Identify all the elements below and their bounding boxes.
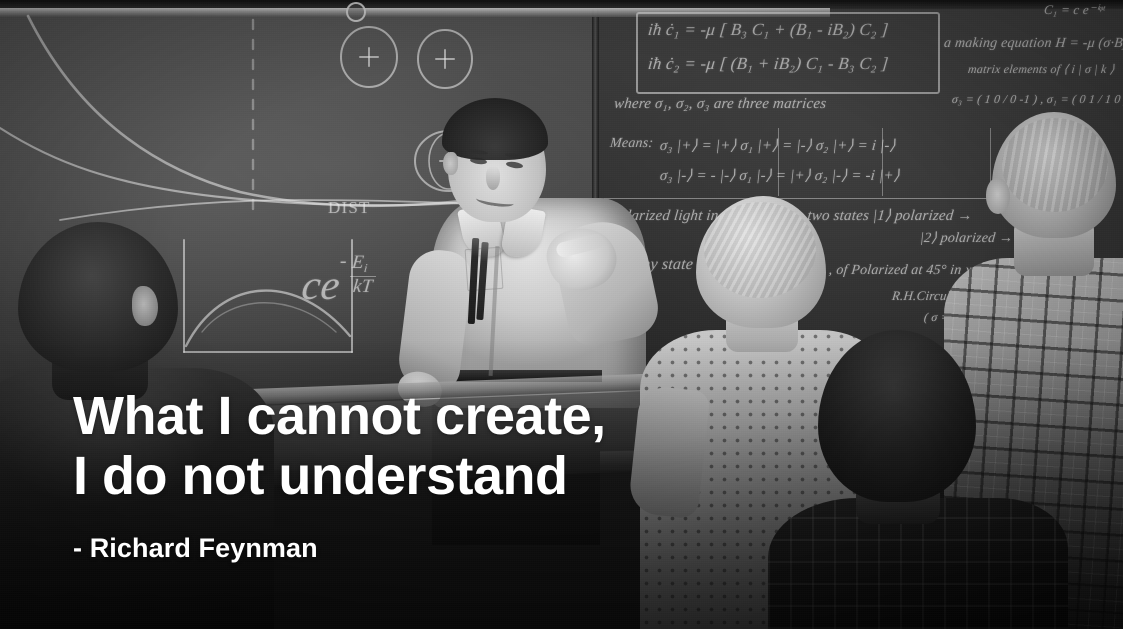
quote-image-canvas: DIST ce - E i kT xyxy=(0,0,1123,629)
table-divider-1 xyxy=(778,128,779,196)
quote-attribution: - Richard Feynman xyxy=(73,532,713,564)
quote-line-1: What I cannot create, xyxy=(73,386,713,446)
student-dark-hair-left-ear xyxy=(132,286,158,326)
table-divider-2 xyxy=(882,128,883,196)
rail-clip-icon xyxy=(346,2,366,22)
student-plaid-shirt-ear xyxy=(986,178,1010,214)
lecturer-nose xyxy=(486,166,500,190)
quote-overlay: What I cannot create, I do not understan… xyxy=(73,386,713,564)
boltzmann-fraction-bar xyxy=(350,276,376,277)
quote-line-2: I do not understand xyxy=(73,446,713,506)
blackboard-rail xyxy=(0,8,830,17)
lecturer-ear xyxy=(443,152,458,175)
